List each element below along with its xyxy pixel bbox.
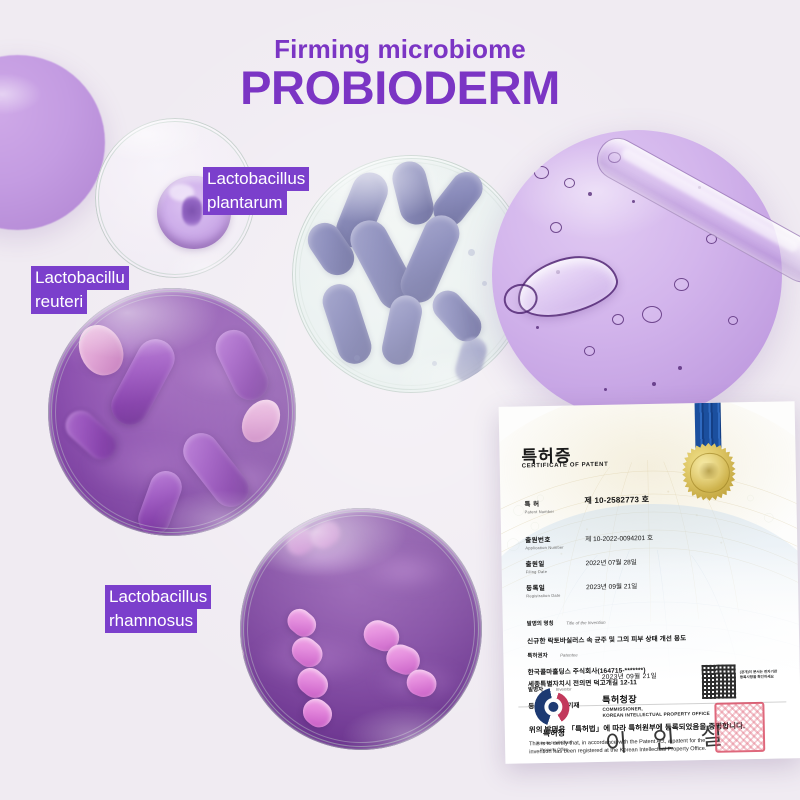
gel-bubble — [550, 222, 562, 233]
species-label-line1: Lactobacillus — [105, 585, 211, 609]
patentee-line1: 한국콜마홀딩스 주식회사(164715-*******) — [528, 664, 646, 676]
gel-speck — [678, 366, 682, 370]
field-application-number: 출원번호 Application Number — [525, 534, 564, 551]
field-key-en: Registration Date — [526, 593, 560, 599]
species-label-line1: Lactobacillu — [31, 266, 129, 290]
dish-edge-ring-inner — [247, 515, 475, 743]
patentee-key-en: Patentee — [560, 652, 578, 657]
field-value-patent-number: 제 10-2582773 호 — [584, 494, 649, 506]
field-filing-date: 출원일 Filing Date — [526, 558, 548, 574]
gold-seal-icon — [679, 442, 738, 501]
gel-speck — [604, 388, 607, 391]
petri-dish-reuteri — [48, 288, 296, 536]
species-label-line2: rhamnosus — [105, 609, 197, 633]
poster-canvas: Firming microbiome PROBIODERM Lactobacil… — [0, 0, 800, 800]
title-block: Firming microbiome PROBIODERM — [0, 36, 800, 113]
gel-speck — [632, 200, 635, 203]
gel-bubble — [728, 316, 738, 325]
field-value-filing-date: 2022년 07월 28일 — [586, 556, 637, 567]
invention-title-key-en: Title of the Invention — [566, 620, 606, 626]
species-label-line2: reuteri — [31, 290, 87, 314]
inventor-key-en: Inventor — [556, 687, 572, 692]
bacterium-cell — [240, 659, 241, 693]
field-key-kr: 등록일 — [526, 582, 560, 593]
species-label-rhamnosus: Lactobacillus rhamnosus — [105, 585, 211, 633]
species-label-plantarum: Lactobacillus plantarum — [203, 167, 309, 215]
bacterium-speck — [482, 281, 487, 286]
droplet-highlight — [169, 184, 194, 200]
gel-bubble — [584, 346, 595, 356]
field-patent-number: 특 허 Patent Number — [524, 498, 554, 515]
field-key-kr: 출원번호 — [525, 534, 564, 545]
field-key-kr: 출원일 — [526, 558, 548, 568]
field-key-kr: 특 허 — [524, 498, 554, 509]
patent-certificate: 특허증 CERTIFICATE OF PATENT 특 허 Patent Num… — [499, 401, 800, 764]
gel-bubble — [564, 178, 575, 188]
field-key-en: Patent Number — [525, 509, 555, 515]
species-label-line1: Lactobacillus — [203, 167, 309, 191]
field-key-en: Application Number — [525, 545, 564, 551]
species-label-reuteri: Lactobacillu reuteri — [31, 266, 129, 314]
field-registration-date: 등록일 Registration Date — [526, 582, 561, 599]
brand-name: PROBIODERM — [0, 64, 800, 113]
species-label-line2: plantarum — [203, 191, 287, 215]
gel-bubble — [612, 314, 624, 325]
certification-statement: 위의 발명은 「특허법」에 따라 특허원부에 등록되었음을 증명합니다. Thi… — [529, 720, 746, 757]
gel-bubble — [642, 306, 662, 323]
petri-dish-rhamnosus — [240, 508, 482, 750]
field-value-application-number: 제 10-2022-0094201 호 — [585, 532, 653, 543]
gel-bubble — [534, 166, 549, 179]
gel-speck — [588, 192, 592, 196]
dish-edge-ring-inner — [55, 295, 289, 529]
gel-bubble — [674, 278, 689, 291]
patentee-key-kr: 특허권자 — [527, 653, 547, 659]
bacterium-speck — [354, 355, 360, 361]
gel-speck — [652, 382, 656, 386]
invention-title-block: 발명의 명칭 Title of the Invention 신규한 락토바실러스… — [527, 609, 687, 645]
inventor-key-kr: 발명자 — [528, 687, 543, 693]
field-value-registration-date: 2023년 09월 21일 — [586, 580, 637, 591]
seal-emblem — [697, 462, 720, 479]
gel-speck — [536, 326, 539, 329]
bacterium-speck — [468, 249, 475, 256]
tagline: Firming microbiome — [0, 36, 800, 63]
field-key-en: Filing Date — [526, 569, 547, 574]
bacterium-speck — [432, 361, 437, 366]
invention-title-key-kr: 발명의 명칭 — [527, 621, 554, 628]
